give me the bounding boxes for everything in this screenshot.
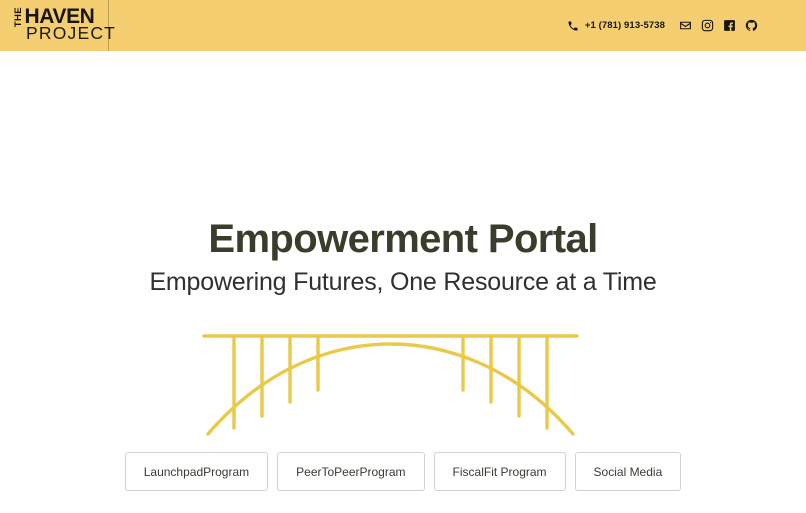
portal-button-peertopeer[interactable]: PeerToPeerProgram: [277, 452, 424, 491]
page-subtitle: Empowering Futures, One Resource at a Ti…: [0, 268, 806, 297]
phone-link[interactable]: +1 (781) 913-5738: [567, 19, 665, 32]
phone-number: +1 (781) 913-5738: [585, 20, 665, 31]
header-contact-bar: +1 (781) 913-5738: [567, 0, 758, 51]
email-icon[interactable]: [679, 19, 692, 32]
portal-button-social-media[interactable]: Social Media: [575, 452, 682, 491]
bridge-arch-icon: [198, 328, 583, 440]
site-header: THE HAVEN PROJECT +1 (781) 913-5738: [0, 0, 806, 51]
phone-icon: [567, 19, 580, 32]
portal-button-row: LaunchpadProgram PeerToPeerProgram Fisca…: [0, 452, 806, 491]
github-icon[interactable]: [745, 19, 758, 32]
portal-button-fiscalfit[interactable]: FiscalFit Program: [434, 452, 566, 491]
logo-project-text: PROJECT: [26, 25, 116, 43]
page-title: Empowerment Portal: [0, 219, 806, 259]
instagram-icon[interactable]: [701, 19, 714, 32]
site-logo[interactable]: THE HAVEN PROJECT: [14, 0, 109, 51]
facebook-icon[interactable]: [723, 19, 736, 32]
logo-the-text: THE: [14, 7, 24, 27]
social-links: [679, 19, 758, 32]
main-content: Empowerment Portal Empowering Futures, O…: [0, 51, 806, 513]
portal-button-launchpad[interactable]: LaunchpadProgram: [125, 452, 268, 491]
